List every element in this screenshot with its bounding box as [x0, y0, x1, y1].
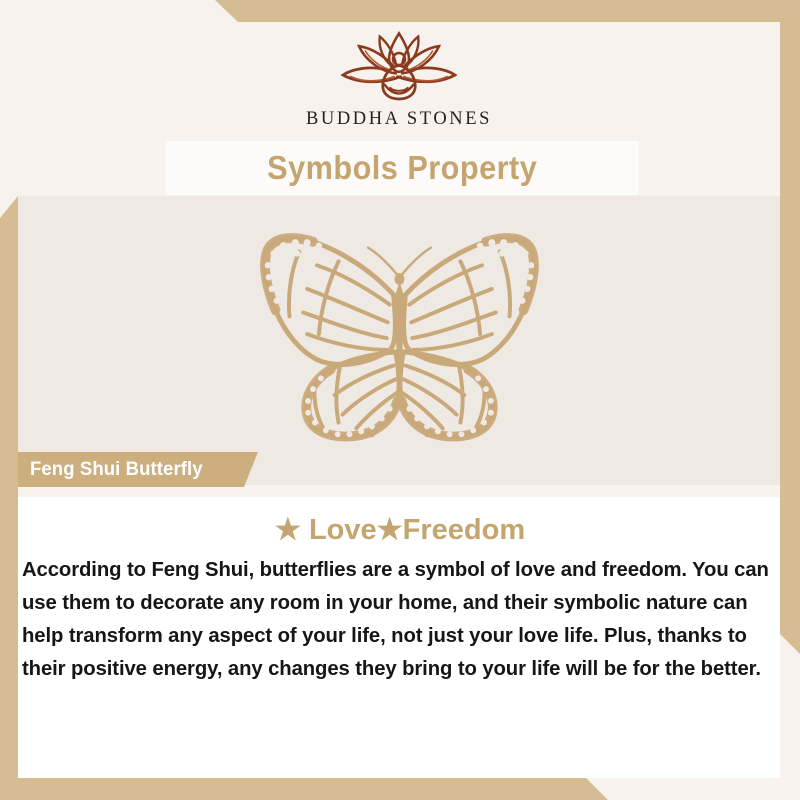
description-text: According to Feng Shui, butterflies are … — [22, 553, 773, 685]
page-title: Symbols Property — [267, 149, 537, 187]
lotus-meditation-icon — [311, 26, 487, 108]
tagline: ★ Love★Freedom — [0, 512, 800, 547]
section-banner: Feng Shui Butterfly — [18, 452, 258, 487]
section-banner-label: Feng Shui Butterfly — [30, 458, 203, 481]
frame-top-accent — [0, 0, 800, 22]
frame-bottom-accent — [0, 777, 800, 800]
title-band: Symbols Property — [165, 141, 639, 195]
brand-wordmark: BUDDHA STONES — [306, 109, 492, 130]
frame-left-accent — [0, 196, 18, 800]
frame-right-accent — [778, 22, 800, 654]
brand-logo: BUDDHA STONES — [18, 22, 780, 140]
product-info-graphic: BUDDHA STONES Symbols Property — [0, 0, 800, 800]
butterfly-icon — [222, 226, 577, 452]
hero-panel — [18, 196, 780, 485]
